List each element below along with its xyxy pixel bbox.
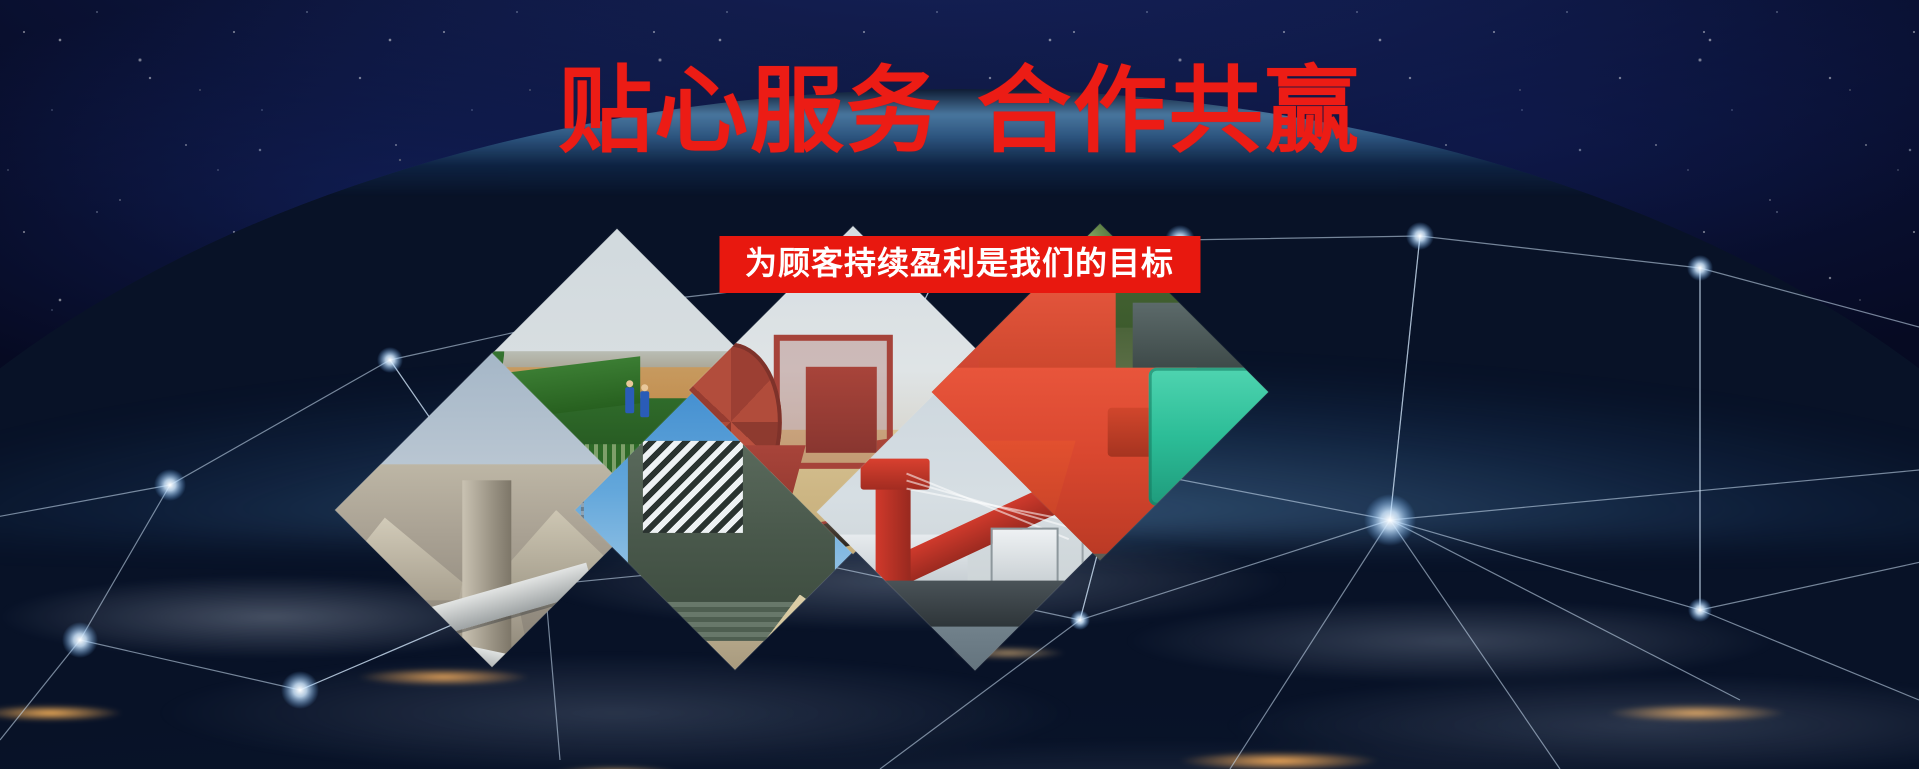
headline-text: 贴心服务 合作共赢: [558, 62, 1361, 162]
subtitle-banner: 为顾客持续盈利是我们的目标: [719, 236, 1200, 293]
headline: 贴心服务 合作共赢: [0, 62, 1919, 162]
subtitle-text: 为顾客持续盈利是我们的目标: [745, 243, 1174, 283]
promo-banner: 贴心服务 合作共赢 为顾客持续盈利是我们的目标: [0, 0, 1919, 769]
